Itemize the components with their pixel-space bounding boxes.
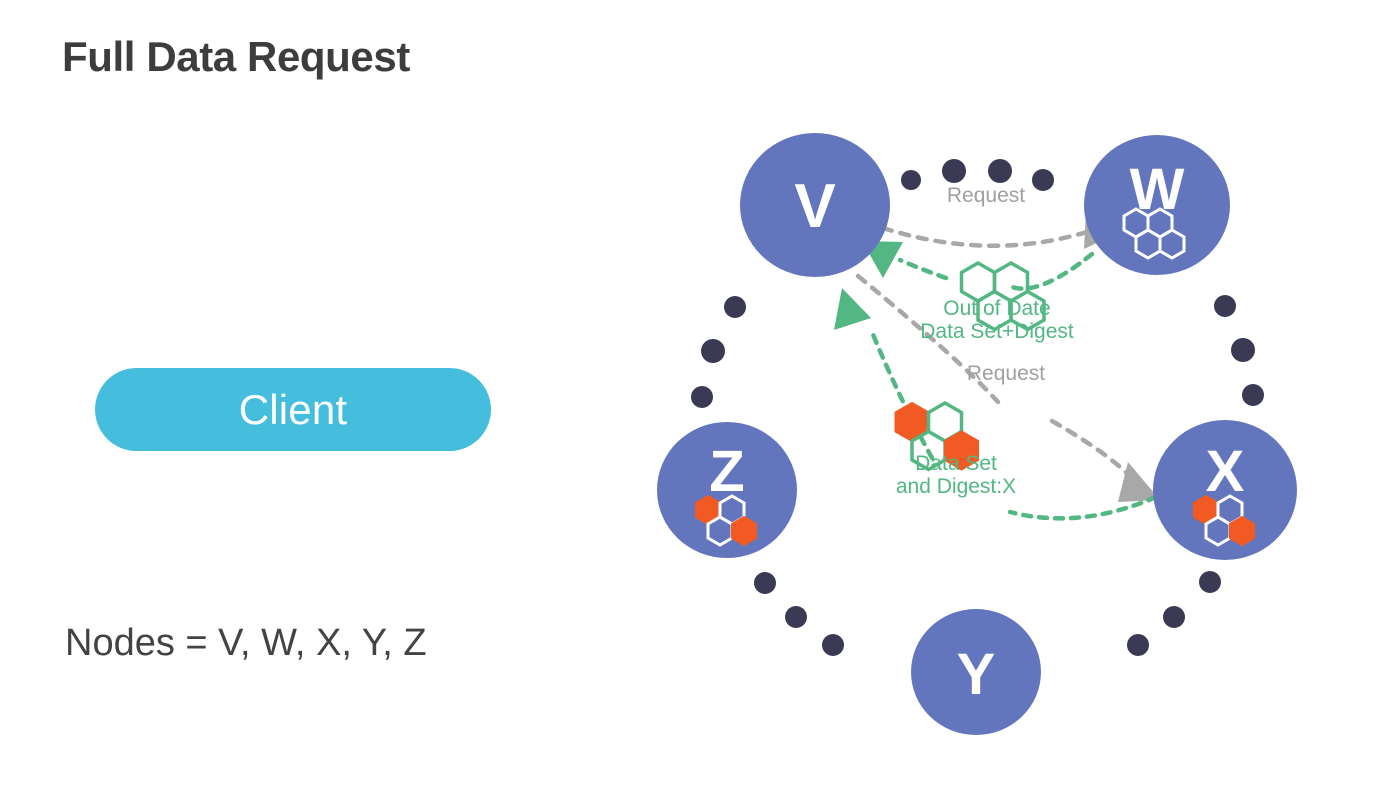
slide-canvas: Full Data Request Client Nodes = V, W, X… [0,0,1380,800]
network-node-v[interactable]: V [740,133,890,277]
ring-network-diagram: Request Request Out [600,110,1380,800]
ring-dot [942,159,966,183]
network-node-z[interactable]: Z [657,422,797,558]
ring-dot [691,386,713,408]
ring-dot [988,159,1012,183]
node-z-label: Z [709,439,744,504]
response-x-to-v-arrowhead [834,288,871,330]
response-x-to-v-line-left [872,332,932,458]
edge-label-outofdate-line1: Out of Date [943,297,1050,320]
edge-request-v-to-w: Request [883,184,1120,249]
edge-label-outofdate-line2: Data Set+Digest [920,320,1074,343]
node-x-label: X [1206,439,1245,504]
ring-dot [1163,606,1185,628]
network-node-y[interactable]: Y [911,609,1041,735]
ring-dot [1199,571,1221,593]
edge-label-dataset-line2: and Digest:X [896,475,1016,498]
network-node-w[interactable]: W [1084,135,1230,275]
page-title: Full Data Request [62,33,410,81]
client-label: Client [239,386,348,434]
network-node-x[interactable]: X [1153,420,1297,560]
ring-dot [754,572,776,594]
edge-label-dataset-line1: Data Set [915,452,997,475]
edge-label-request-top: Request [947,184,1025,207]
ring-dot [701,339,725,363]
ring-dot [1127,634,1149,656]
client-node[interactable]: Client [95,368,491,451]
node-y-label: Y [957,642,996,707]
node-v-label: V [794,172,835,241]
edge-response-w-to-v: Out of Date Data Set+Digest [862,241,1092,343]
request-v-to-w-line [883,228,1090,246]
ring-dot [1032,169,1054,191]
ring-dot [822,634,844,656]
ring-dot [901,170,921,190]
ring-dot [1231,338,1255,362]
response-w-to-v-line-left [900,260,946,278]
ring-dot [1242,384,1264,406]
ring-dot [1214,295,1236,317]
ring-dot [785,606,807,628]
ring-dot [724,296,746,318]
nodes-legend-text: Nodes = V, W, X, Y, Z [65,622,427,665]
edge-label-request-mid: Request [967,362,1045,385]
